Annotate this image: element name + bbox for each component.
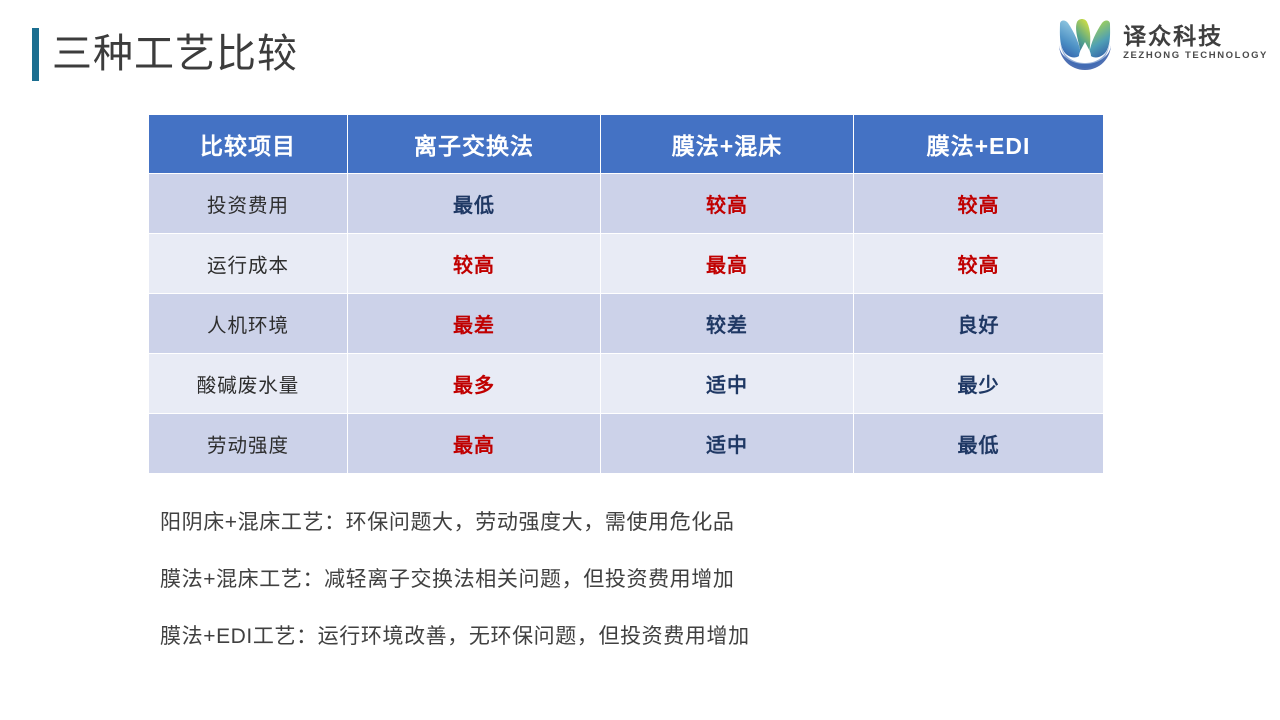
- cell-value: 较差: [601, 294, 854, 354]
- cell-value: 适中: [601, 354, 854, 414]
- table-row: 运行成本 较高 最高 较高: [149, 234, 1104, 294]
- table-row: 人机环境 最差 较差 良好: [149, 294, 1104, 354]
- cell-value: 较高: [854, 174, 1104, 234]
- table-row: 投资费用 最低 较高 较高: [149, 174, 1104, 234]
- leaf-droplet-logo-icon: [1055, 14, 1115, 72]
- company-logo: 译众科技 ZEZHONG TECHNOLOGY: [1055, 12, 1268, 74]
- row-label: 运行成本: [149, 234, 348, 294]
- summary-notes: 阳阴床+混床工艺：环保问题大，劳动强度大，需使用危化品 膜法+混床工艺：减轻离子…: [160, 494, 1160, 665]
- row-label: 酸碱废水量: [149, 354, 348, 414]
- table-header-row: 比较项目 离子交换法 膜法+混床 膜法+EDI: [149, 115, 1104, 174]
- row-label: 投资费用: [149, 174, 348, 234]
- cell-value: 较高: [601, 174, 854, 234]
- note-line: 膜法+混床工艺：减轻离子交换法相关问题，但投资费用增加: [160, 551, 1160, 608]
- cell-value: 适中: [601, 414, 854, 474]
- column-header-membrane-mixedbed: 膜法+混床: [601, 115, 854, 174]
- cell-value: 最高: [601, 234, 854, 294]
- cell-value: 较高: [348, 234, 601, 294]
- row-label: 人机环境: [149, 294, 348, 354]
- cell-value: 较高: [854, 234, 1104, 294]
- cell-value: 最差: [348, 294, 601, 354]
- logo-name-cn: 译众科技: [1123, 23, 1268, 49]
- logo-name-en: ZEZHONG TECHNOLOGY: [1123, 49, 1268, 62]
- column-header-criteria: 比较项目: [149, 115, 348, 174]
- slide-header: 三种工艺比较: [0, 0, 1280, 96]
- table-row: 劳动强度 最高 适中 最低: [149, 414, 1104, 474]
- process-comparison-table: 比较项目 离子交换法 膜法+混床 膜法+EDI 投资费用 最低 较高 较高 运行…: [148, 114, 1104, 474]
- page-title: 三种工艺比较: [52, 26, 298, 82]
- column-header-membrane-edi: 膜法+EDI: [854, 115, 1104, 174]
- cell-value: 最少: [854, 354, 1104, 414]
- cell-value: 最低: [854, 414, 1104, 474]
- column-header-ion-exchange: 离子交换法: [348, 115, 601, 174]
- cell-value: 最高: [348, 414, 601, 474]
- note-line: 阳阴床+混床工艺：环保问题大，劳动强度大，需使用危化品: [160, 494, 1160, 551]
- note-line: 膜法+EDI工艺：运行环境改善，无环保问题，但投资费用增加: [160, 608, 1160, 665]
- cell-value: 最多: [348, 354, 601, 414]
- cell-value: 最低: [348, 174, 601, 234]
- logo-text: 译众科技 ZEZHONG TECHNOLOGY: [1123, 23, 1268, 64]
- cell-value: 良好: [854, 294, 1104, 354]
- table-row: 酸碱废水量 最多 适中 最少: [149, 354, 1104, 414]
- title-accent-bar: [32, 28, 39, 81]
- row-label: 劳动强度: [149, 414, 348, 474]
